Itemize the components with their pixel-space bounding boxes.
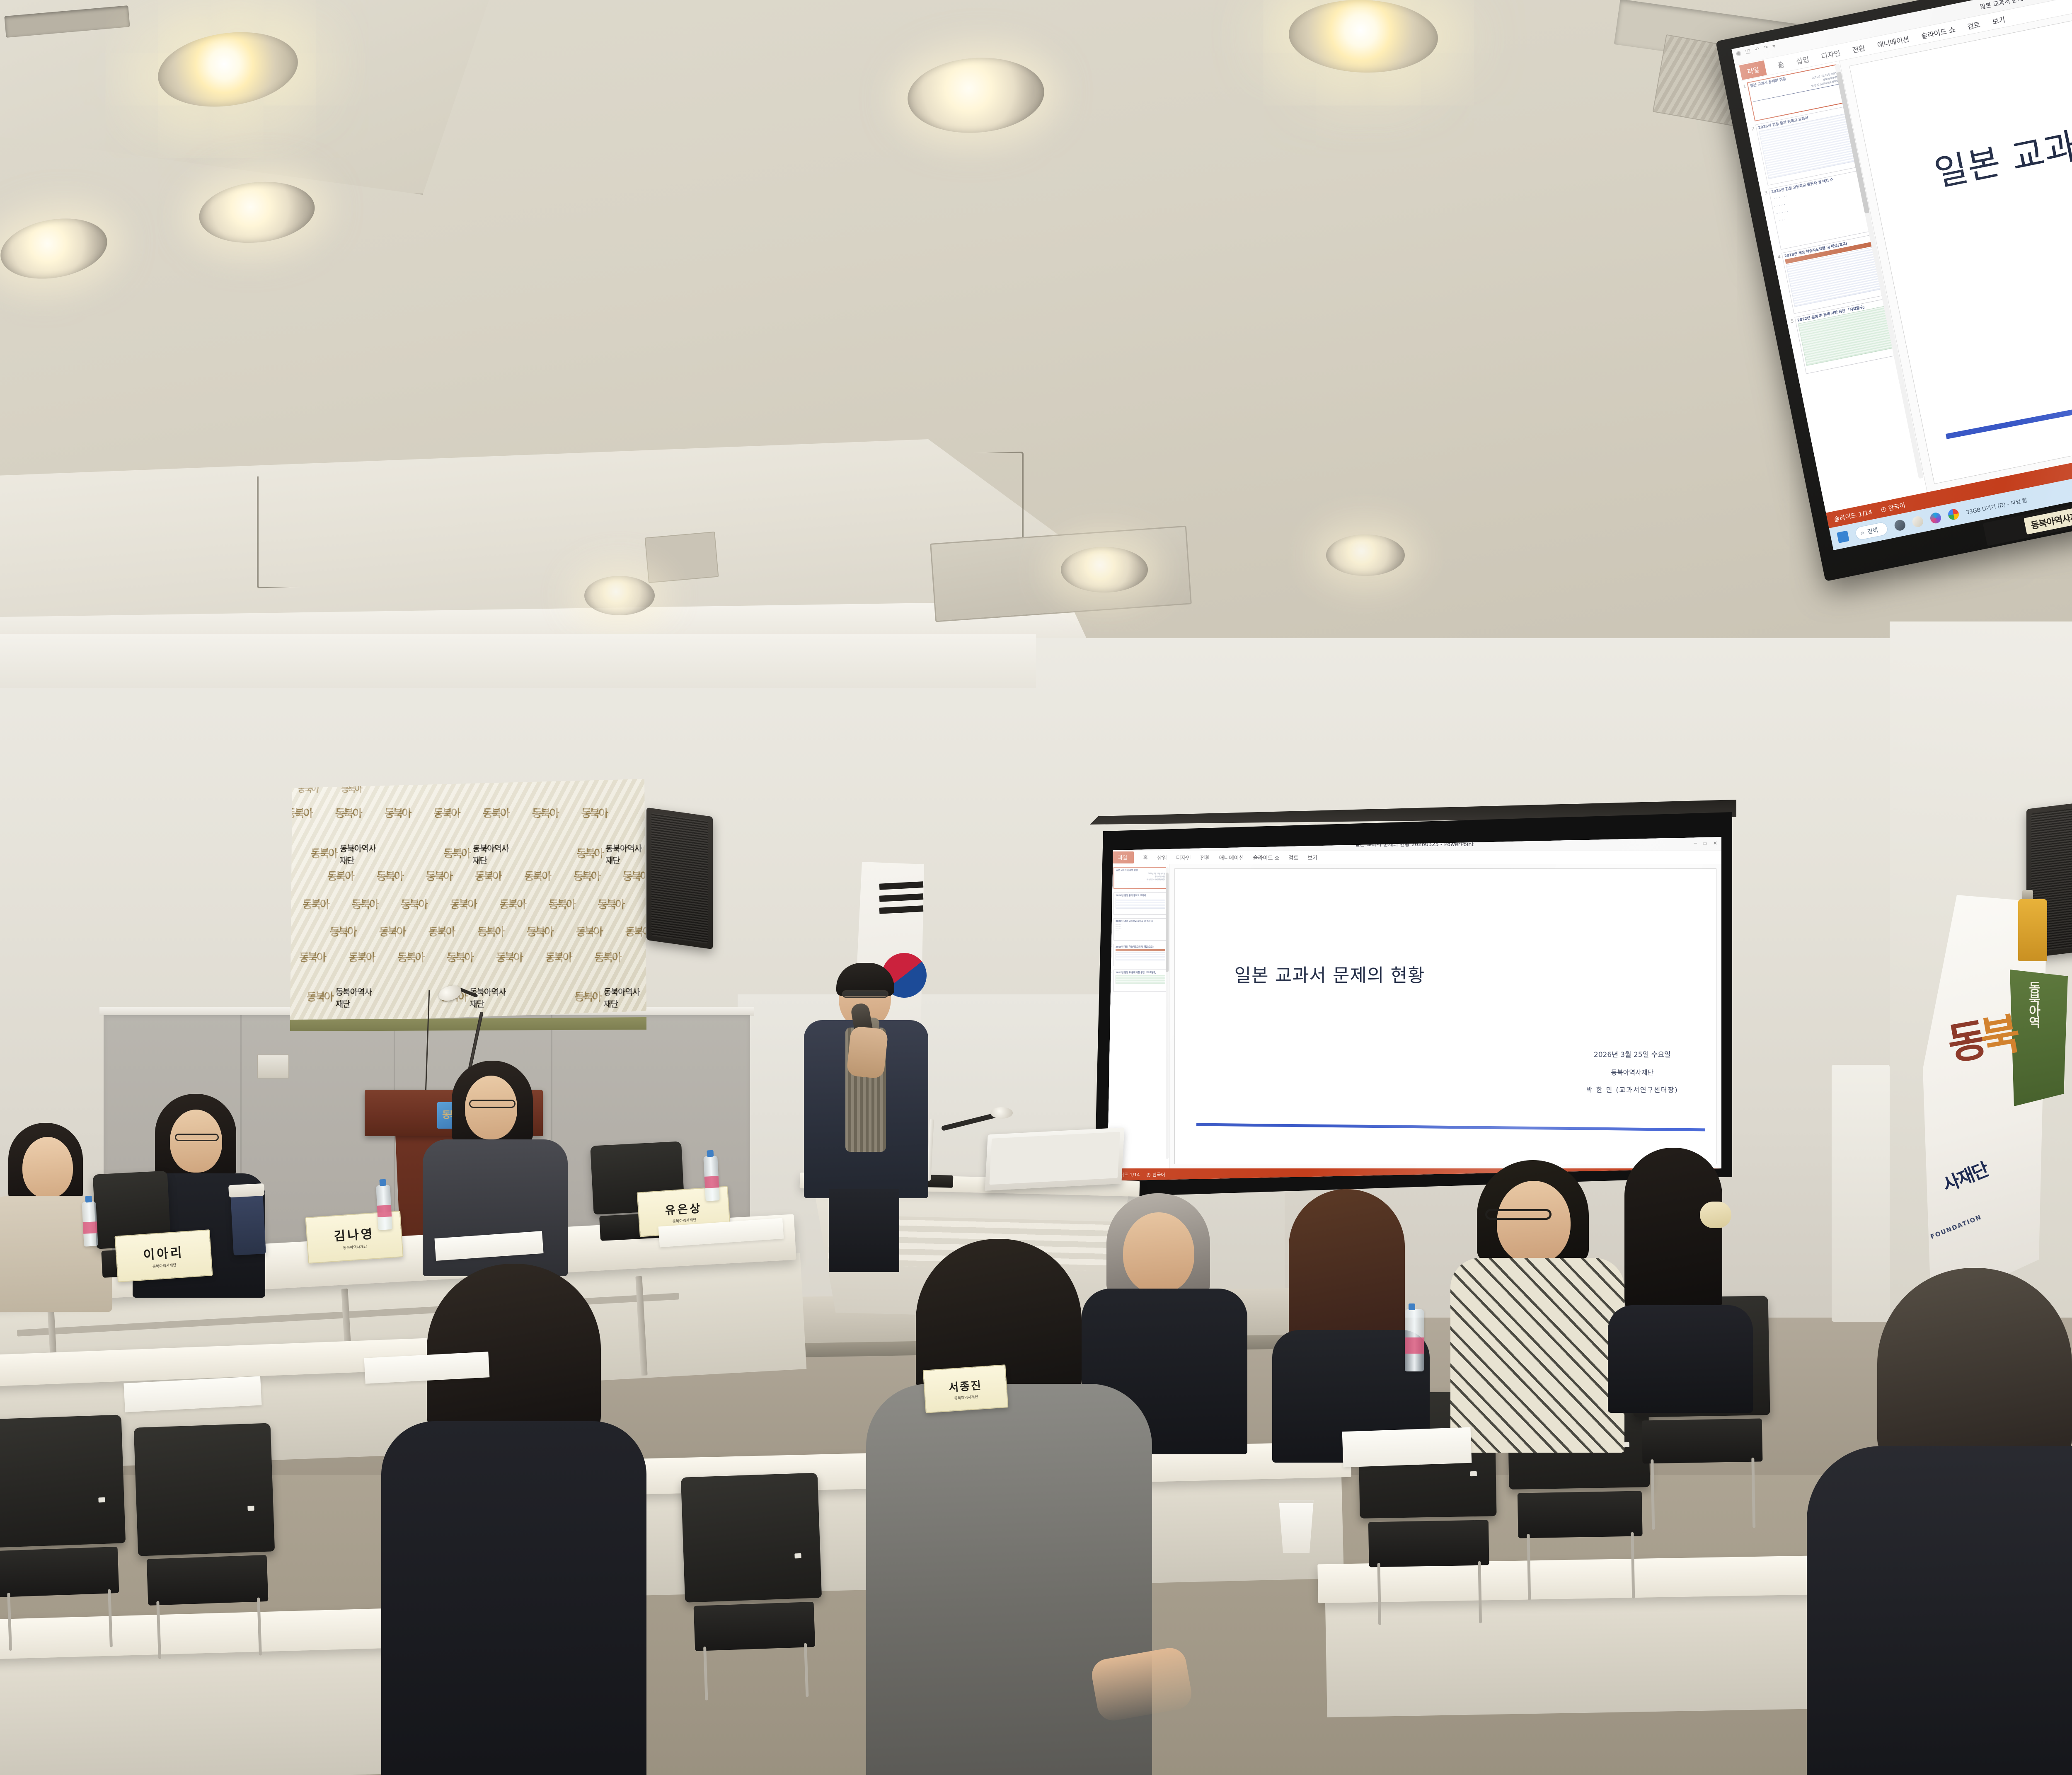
ceiling-downlight [905,53,1047,138]
thumbnail-scrollbar[interactable] [1166,867,1169,1159]
powerpoint-window-projected[interactable]: ▣ ◫ ↶ ↷ ▾ 일본 교과서 문제의 현황 20260325 - Power… [1107,837,1721,1181]
banner-org-name: 동북아역사재단 [336,985,379,1009]
conference-room-scene: 동북아 동북아 동북아 동북아 동북아 동북아 동북아 동북아 동북아 동북아 … [0,0,2072,1775]
language-indicator[interactable]: ◴ 한국어 [1147,1171,1165,1178]
nameplate-org: 동북아역사재단 [152,1262,177,1269]
banner-watermark: 동북아 [349,954,375,962]
current-slide[interactable]: 일본 교과서 문제의 현황 2026년 3월 25일 수요일 동북아역사재단 박… [1174,868,1716,1164]
audience-chair[interactable] [0,1415,127,1597]
panelist-glasses [175,1134,219,1141]
thumbnail-line: 동북아역사재단 [1116,875,1165,878]
panelist-head [22,1137,73,1198]
slide-presenter: 박 한 민 (교과서연구센터장) [1586,1081,1678,1099]
banner-org-name: 동북아역사재단 [472,842,513,866]
foundation-flag-green-text: 동북아역 [2024,981,2042,1028]
banner-watermark: 동북아 [477,928,503,936]
banner-watermark: 동북아 [428,928,455,936]
banner-watermark: 동북아 [598,901,624,909]
banner-org-name: 동북아역사재단 [340,842,381,866]
water-bottle [703,1156,720,1201]
audience-person-foreground [1832,1268,2072,1775]
document-paper [1342,1427,1472,1468]
banner-logo: 동북아 동북아역사재단 [576,842,646,866]
ribbon-tab-design[interactable]: 디자인 [1176,854,1191,861]
banner-watermark: 동북아 [327,873,353,881]
slide-title: 일본 교과서 문제의 현황 [1929,73,2072,196]
nameplate-name: 유은상 [664,1199,702,1217]
nameplate-name: 이아리 [143,1242,184,1263]
thumbnail-line: 박 한 민 (교과서연구센터장) [1116,878,1165,880]
ribbon-tab-insert[interactable]: 삽입 [1795,53,1810,66]
nameplate-name: 서종진 [948,1377,983,1395]
audience-jacket [1807,1446,2072,1775]
banner-watermark: 동북아 [532,810,558,818]
audience-hair-ponytail [1624,1148,1722,1322]
slide-date: 2026년 3월 25일 수요일 [1586,1046,1678,1064]
travel-tumbler [230,1192,266,1255]
thumbnail-table-graphic [1116,952,1165,960]
wall-upper-strip [0,634,1036,688]
thumbnail-title: 2022년 검정 후 문제 사항 등단 「자료탐구」 [1116,972,1165,974]
banner-watermark: 동북아 [447,954,473,962]
redo-icon[interactable]: ↷ [1763,44,1769,51]
minimize-icon[interactable]: ─ [1694,840,1697,846]
close-icon[interactable]: ✕ [1713,840,1717,846]
ribbon-tab-slideshow[interactable]: 슬라이드 쇼 [1253,854,1280,861]
ribbon-tab-view[interactable]: 보기 [1307,854,1317,861]
restore-icon[interactable]: ▭ [1703,840,1707,846]
banner-watermark: 동북아 [581,810,608,818]
thumbnail-title: 일본 교과서 문제의 현황 [1116,869,1165,872]
search-input[interactable]: ⌕ 검색 [1854,521,1888,541]
slide-thumbnail-card[interactable]: 2018년 개정 학습지도요령 및 해설(고교) [1113,944,1167,966]
banner-logo: 동북아 동북아역사재단 [575,985,646,1009]
ceiling-access-panel [645,532,719,583]
banner-watermark: 동북아 [576,928,602,936]
banner-bottom-band [290,1017,647,1031]
foundation-step-and-repeat-banner: 동북아 동북아 동북아 동북아 동북아 동북아 동북아 동북아 동북아 동북아 … [290,779,646,1023]
banner-watermark: 동북아 [483,810,509,818]
banner-watermark: 동북아 [299,954,325,962]
audience-person [1612,1148,1749,1413]
presenter-glasses [842,990,888,998]
banner-watermark: 동북아 [595,954,621,962]
panelist-head [170,1110,222,1173]
ribbon-tab-review[interactable]: 검토 [1966,19,1981,31]
thumbnail-table-header [1116,949,1165,951]
customize-icon[interactable]: ▾ [1772,43,1776,50]
thumbnail-rule [1116,882,1165,882]
banner-watermark: 동북아 [398,954,424,962]
banner-watermark: 동북아 [549,901,575,909]
slide-thumbnail-card[interactable]: 2026년 검정 고등학교 출원사 및 책자 수 · · · · · · · ·… [1113,918,1167,941]
banner-logo: 동북아 동북아역사재단 [444,842,514,866]
slide-organization: 동북아역사재단 [1586,1064,1678,1081]
ribbon-tab-file[interactable]: 파일 [1111,851,1134,863]
banner-watermark: 동북아 [433,810,460,818]
thumbnail-table-graphic [1116,975,1165,984]
banner-watermark: 동북아 [401,901,427,909]
audience-head [1497,1181,1571,1264]
ceiling-downlight [0,210,112,286]
slide-accent-rule [1196,1123,1705,1131]
ribbon-tab-bar[interactable]: 파일 홈 삽입 디자인 전환 애니메이션 슬라이드 쇼 검토 보기 [1107,851,1721,864]
audience-person-foreground [879,1239,1135,1775]
thumbnail-title: 2026년 검정 통과 중학교 교과서 [1116,895,1165,897]
banner-watermark: 동북아 [475,873,501,881]
language-indicator[interactable]: ◴ 한국어 [1880,501,1906,514]
globe-icon: ◴ [1147,1172,1151,1178]
audience-person [1276,1189,1426,1454]
slide-thumbnail[interactable]: 4 2018년 개정 학습지도요령 및 해설(고교) [1108,944,1167,966]
banner-watermark: 동북아 [527,928,553,936]
thumbnail-line: 2026년 3월 25일 수요일 [1116,873,1165,875]
thumbnail-bullets: · · · · · · · ·· · · · · ·· · · · · · ··… [1116,924,1165,932]
slide-title: 일본 교과서 문제의 현황 [1234,960,1425,987]
banner-watermark: 동북아 [625,928,646,936]
slide-thumbnail-card[interactable]: 2026년 검정 통과 중학교 교과서 [1113,892,1167,915]
globe-icon: ◴ [1880,505,1887,513]
copilot-icon[interactable] [1929,512,1942,525]
window-controls[interactable]: ─ ▭ ✕ [1694,840,1717,846]
audience-hair [1877,1268,2072,1463]
ceiling-downlight [1326,534,1405,576]
flag-trigram-bars [879,883,923,927]
ribbon-tab-transitions[interactable]: 전환 [1851,42,1866,55]
banner-watermark: 동북아 [385,810,411,818]
banner-watermark: 동북아 [623,873,646,881]
banner-watermark: 동북아 [524,873,550,881]
banner-watermark: 동북아 [379,928,405,936]
banner-logo: 동북아 동북아역사재단 [311,842,381,866]
slide-thumbnail[interactable]: 5 2022년 검정 후 문제 사항 등단 「자료탐구」 [1108,970,1167,992]
audience-hair [427,1264,601,1438]
audience-chair[interactable] [134,1423,277,1606]
hair-scrunchie [1700,1202,1731,1228]
nameplate-org: 동북아역사재단 [954,1393,978,1400]
ceiling-downlight [1061,547,1148,592]
banner-watermark: 동북아 [426,873,452,881]
banner-watermark: 동북아 [335,810,361,818]
slide-thumbnail-pane[interactable]: 1 일본 교과서 문제의 현황 2026년 3월 25일 수요일 동북아역사재단… [1107,864,1169,1168]
autosave-icon[interactable]: ◫ [1745,48,1751,55]
widgets-icon[interactable] [1911,515,1924,528]
ribbon-tab-design[interactable]: 디자인 [1820,47,1841,61]
save-icon[interactable]: ▣ [1736,50,1742,57]
nameplate: 이아리 동북아역사재단 [114,1229,213,1282]
audience-person [1459,1160,1624,1450]
audience-hair [1289,1189,1405,1347]
nameplate-org: 동북아역사재단 [672,1216,697,1224]
water-bottle [376,1185,392,1230]
audience-plaid-shirt [1450,1258,1624,1453]
thumbnail-title: 2018년 개정 학습지도요령 및 해설(고교) [1116,946,1165,948]
wall-speaker [646,808,713,949]
slide-thumbnail-card[interactable]: 2022년 검정 후 문제 사항 등단 「자료탐구」 [1113,970,1167,992]
thumbnail-title: 2026년 검정 고등학교 출원사 및 책자 수 [1116,920,1165,923]
slide-thumbnail[interactable]: 3 2026년 검정 고등학교 출원사 및 책자 수 · · · · · · ·… [1108,918,1167,941]
presenter-person [804,965,928,1264]
quick-access-toolbar[interactable]: ▣ ◫ ↶ ↷ ▾ [1736,43,1776,57]
ribbon-tab-animations[interactable]: 애니메이션 [1219,854,1244,861]
ribbon-tab-view[interactable]: 보기 [1991,14,2006,27]
ribbon-tab-insert[interactable]: 삽입 [1157,854,1167,861]
powerpoint-workspace: 1 일본 교과서 문제의 현황 2026년 3월 25일 수요일 동북아역사재단… [1107,864,1721,1168]
ribbon-tab-transitions[interactable]: 전환 [1200,854,1210,861]
banner-watermark: 동북아 [499,901,525,909]
foundation-logo-mark: 동북 [1946,1017,2028,1060]
ribbon-tab-home[interactable]: 홈 [1777,58,1785,70]
microphone-icon [990,1107,1013,1119]
water-bottle [82,1201,98,1247]
audience-glasses [1485,1209,1552,1220]
nameplate-org: 동북아역사재단 [343,1243,367,1250]
ceiling-downlight [584,576,655,615]
nameplate: 서종진 동북아역사재단 [923,1364,1009,1413]
banner-watermark: 동북아 [330,928,356,936]
presenter-hand [846,1026,888,1079]
banner-watermark: 동북아 [290,810,312,818]
undo-icon[interactable]: ↶ [1754,46,1760,53]
audience-person-foreground [406,1264,622,1775]
banner-watermark: 동북아 [303,901,329,909]
banner-watermark: 동북아 [545,954,571,962]
banner-watermark: 동북아 [377,873,403,881]
nameplate-name: 김나영 [333,1224,375,1245]
thumbnail-table-graphic [1116,898,1165,909]
start-icon[interactable] [1837,530,1849,543]
ceiling-downlight [196,177,318,248]
projection-screen: ▣ ◫ ↶ ↷ ▾ 일본 교과서 문제의 현황 20260325 - Power… [1107,837,1721,1181]
chrome-icon[interactable] [1947,508,1960,521]
banner-watermark: 동북아 [496,954,522,962]
slide-editing-pane[interactable]: 일본 교과서 문제의 현황 2026년 3월 25일 수요일 동북아역사재단 박… [1169,864,1721,1168]
audience-chair[interactable] [681,1473,823,1651]
banner-watermark: 동북아 [352,901,378,909]
ribbon-tab-home[interactable]: 홈 [1143,854,1148,861]
panelist-glasses [469,1100,516,1108]
flag-tassel [2018,899,2047,961]
slide-thumbnail[interactable]: 1 일본 교과서 문제의 현황 2026년 3월 25일 수요일 동북아역사재단… [1108,867,1167,889]
search-icon: ⌕ [1860,530,1865,537]
audience-coat [381,1421,646,1775]
audience-top [1608,1305,1753,1413]
banner-logo: 동북아 동북아역사재단 [307,985,378,1009]
ribbon-tab-review[interactable]: 검토 [1289,854,1299,861]
slide-thumbnail-card[interactable]: 일본 교과서 문제의 현황 2026년 3월 25일 수요일 동북아역사재단 박… [1113,867,1167,889]
ceiling-downlight [1288,0,1439,75]
banner-org-name: 동북아역사재단 [603,985,646,1009]
slide-accent-rule [1946,342,2072,440]
banner-watermark: 동북아 [574,873,600,881]
banner-watermark: 동북아 [450,901,476,909]
presenter-laptop[interactable] [985,1127,1125,1191]
slide-thumbnail[interactable]: 2 2026년 검정 통과 중학교 교과서 [1108,892,1167,915]
banner-org-name: 동북아역사재단 [605,842,646,866]
taskbar-tray-text: 33GB U기기 (D) - 파일 탐 [1965,496,2028,516]
slide-metadata-block: 2026년 3월 25일 수요일 동북아역사재단 박 한 민 (교과서연구센터장… [1586,1046,1678,1098]
water-bottle [1405,1309,1424,1371]
wall-switch-plate[interactable] [257,1054,289,1079]
file-explorer-icon[interactable] [1893,519,1906,532]
thumbnail-table-graphic [1798,306,1894,366]
